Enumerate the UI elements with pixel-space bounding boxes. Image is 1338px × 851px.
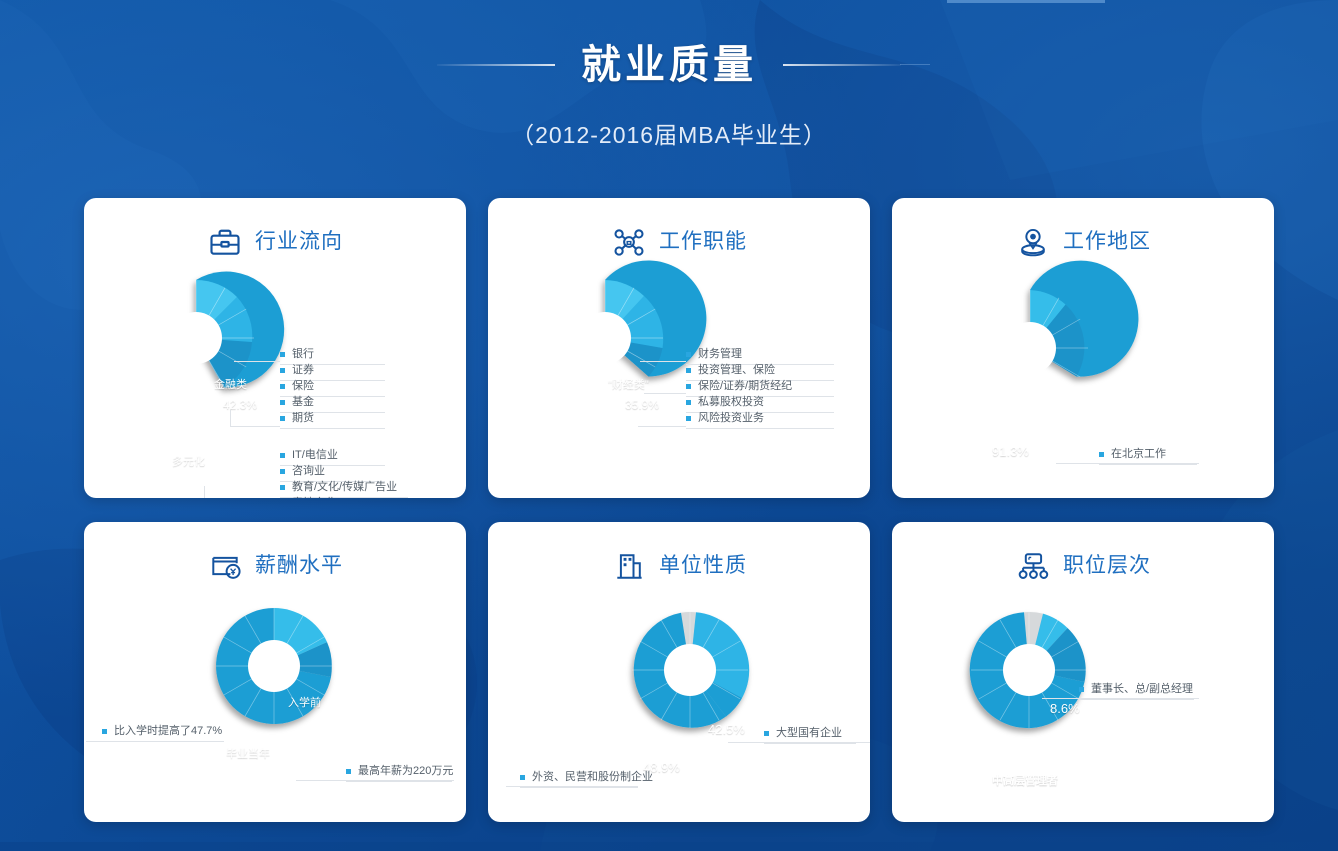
legend-label: IT/电信业: [292, 448, 338, 462]
donut-label-before-enrollment: 入学前: [288, 696, 321, 710]
org-chart-icon: [1015, 549, 1051, 583]
donut-chart-work-region: [966, 284, 1094, 412]
donut-label-finance: 金融类: [214, 378, 247, 392]
donut-label-diversified: 多元化: [172, 455, 205, 469]
card-job-function[interactable]: 工作职能: [488, 198, 870, 498]
donut-label-graduation-year: 毕业当年: [226, 747, 270, 761]
legend-label: 保险: [292, 379, 314, 393]
legend-bullet-icon: [280, 416, 285, 421]
card-body-employer-type: 42.5% 48.9% 大型国有企业 外资、民营和股份制企业: [488, 584, 870, 822]
legend-label: 保险/证券/期货经纪: [698, 379, 792, 393]
card-body-salary: 入学前 毕业当年 比入学时提高了47.7% 最高年薪为220万元: [84, 584, 466, 822]
legend-bullet-icon: [520, 775, 525, 780]
card-header-employer-type: 单位性质: [488, 522, 870, 584]
card-body-work-region: 91.3% 在北京工作: [892, 260, 1274, 498]
stats-card-grid: 行业流向: [84, 198, 1274, 822]
legend-bullet-icon: [280, 368, 285, 373]
legend-label: 房地产业: [292, 496, 336, 498]
leader-line: [86, 741, 224, 742]
location-pin-icon: [1015, 225, 1051, 259]
legend-bullet-icon: [102, 729, 107, 734]
card-title-work-region: 工作地区: [1063, 229, 1151, 255]
card-salary[interactable]: 薪酬水平: [84, 522, 466, 822]
legend-label: 风险投资业务: [698, 411, 764, 425]
card-position-level[interactable]: 职位层次: [892, 522, 1274, 822]
legend-bullet-icon: [686, 400, 691, 405]
donut-label-beijing-pct: 91.3%: [992, 444, 1029, 460]
legend-label: 大型国有企业: [776, 726, 842, 740]
donut-label-finance-pct: 42.3%: [223, 398, 257, 412]
network-nodes-icon: [611, 225, 647, 259]
card-title-job-function: 工作职能: [659, 229, 747, 255]
leader-line: [640, 361, 686, 362]
card-body-industry: 金融类 42.3% 多元化 银行 证券 保险 基金 期货: [84, 260, 466, 498]
leader-line: [1042, 698, 1199, 699]
card-header-industry: 行业流向: [84, 198, 466, 260]
title-row: 就业质量: [0, 0, 1338, 90]
card-industry[interactable]: 行业流向: [84, 198, 466, 498]
leader-line: [230, 426, 280, 427]
legend-bullet-icon: [686, 368, 691, 373]
legend-label: 教育/文化/传媒广告业: [292, 480, 397, 494]
leader-line: [296, 780, 454, 781]
legend-bullet-icon: [686, 416, 691, 421]
legend-label: 最高年薪为220万元: [358, 764, 453, 778]
card-header-salary: 薪酬水平: [84, 522, 466, 584]
card-title-industry: 行业流向: [255, 229, 343, 255]
leader-line: [638, 426, 686, 427]
legend-bullet-icon: [280, 485, 285, 490]
leader-line: [644, 393, 686, 394]
leader-line: [204, 486, 205, 498]
briefcase-icon: [207, 225, 243, 259]
legend-bullet-icon: [280, 384, 285, 389]
legend-label: 证券: [292, 363, 314, 377]
legend-label: 在北京工作: [1111, 447, 1166, 461]
card-work-region[interactable]: 工作地区: [892, 198, 1274, 498]
leader-line: [506, 786, 638, 787]
legend-label: 基金: [292, 395, 314, 409]
card-header-work-region: 工作地区: [892, 198, 1274, 260]
card-title-employer-type: 单位性质: [659, 553, 747, 579]
legend-label: 外资、民营和股份制企业: [532, 770, 653, 784]
legend-item[interactable]: 房地产业: [280, 496, 385, 498]
legend-label: 咨询业: [292, 464, 325, 478]
donut-label-executive-pct: 8.6%: [1050, 701, 1080, 717]
donut-label-finance-category: "财经类": [608, 378, 649, 392]
legend-item[interactable]: 期货: [280, 411, 385, 429]
page-header: 就业质量 （2012-2016届MBA毕业生）: [0, 0, 1338, 190]
leader-line: [1056, 463, 1199, 464]
leader-line: [728, 742, 870, 743]
legend-label: 投资管理、保险: [698, 363, 775, 377]
legend-bullet-icon: [764, 731, 769, 736]
page-subtitle: （2012-2016届MBA毕业生）: [0, 116, 1338, 150]
donut-label-middle-management: 中高层管理者: [992, 774, 1058, 788]
donut-chart-employer-type: [626, 606, 754, 734]
card-title-salary: 薪酬水平: [255, 553, 343, 579]
wallet-yuan-icon: [207, 549, 243, 583]
office-building-icon: [611, 549, 647, 583]
title-rule-left: [437, 64, 555, 66]
legend-label: 比入学时提高了47.7%: [114, 724, 222, 738]
legend-label: 银行: [292, 347, 314, 361]
legend-bullet-icon: [346, 769, 351, 774]
leader-line: [234, 361, 280, 362]
legend-bullet-icon: [686, 352, 691, 357]
card-header-position-level: 职位层次: [892, 522, 1274, 584]
page-title: 就业质量: [581, 40, 757, 90]
legend-bullet-icon: [280, 400, 285, 405]
legend-label: 财务管理: [698, 347, 742, 361]
card-header-job-function: 工作职能: [488, 198, 870, 260]
leader-line: [230, 410, 231, 427]
donut-chart-salary: [210, 602, 338, 730]
legend-bullet-icon: [280, 469, 285, 474]
legend-label: 董事长、总/副总经理: [1091, 682, 1193, 696]
legend-item[interactable]: 比入学时提高了47.7%: [102, 724, 224, 742]
legend-bullet-icon: [1099, 452, 1104, 457]
legend-label: 私募股权投资: [698, 395, 764, 409]
card-body-job-function: "财经类" 35.9% 财务管理 投资管理、保险 保险/证券/期货经纪 私募股权…: [488, 260, 870, 498]
card-body-position-level: 8.6% 中高层管理者 董事长、总/副总经理: [892, 584, 1274, 822]
donut-chart-job-function: [541, 274, 669, 402]
card-employer-type[interactable]: 单位性质: [488, 522, 870, 822]
title-rule-right: [783, 64, 901, 66]
donut-label-finance-category-pct: 35.9%: [625, 398, 659, 412]
legend-bullet-icon: [280, 453, 285, 458]
legend-bullet-icon: [1079, 687, 1084, 692]
legend-bullet-icon: [280, 352, 285, 357]
donut-label-soe-pct: 42.5%: [708, 722, 745, 738]
legend-label: 期货: [292, 411, 314, 425]
legend-item[interactable]: 风险投资业务: [686, 411, 834, 429]
card-title-position-level: 职位层次: [1063, 553, 1151, 579]
legend-bullet-icon: [686, 384, 691, 389]
